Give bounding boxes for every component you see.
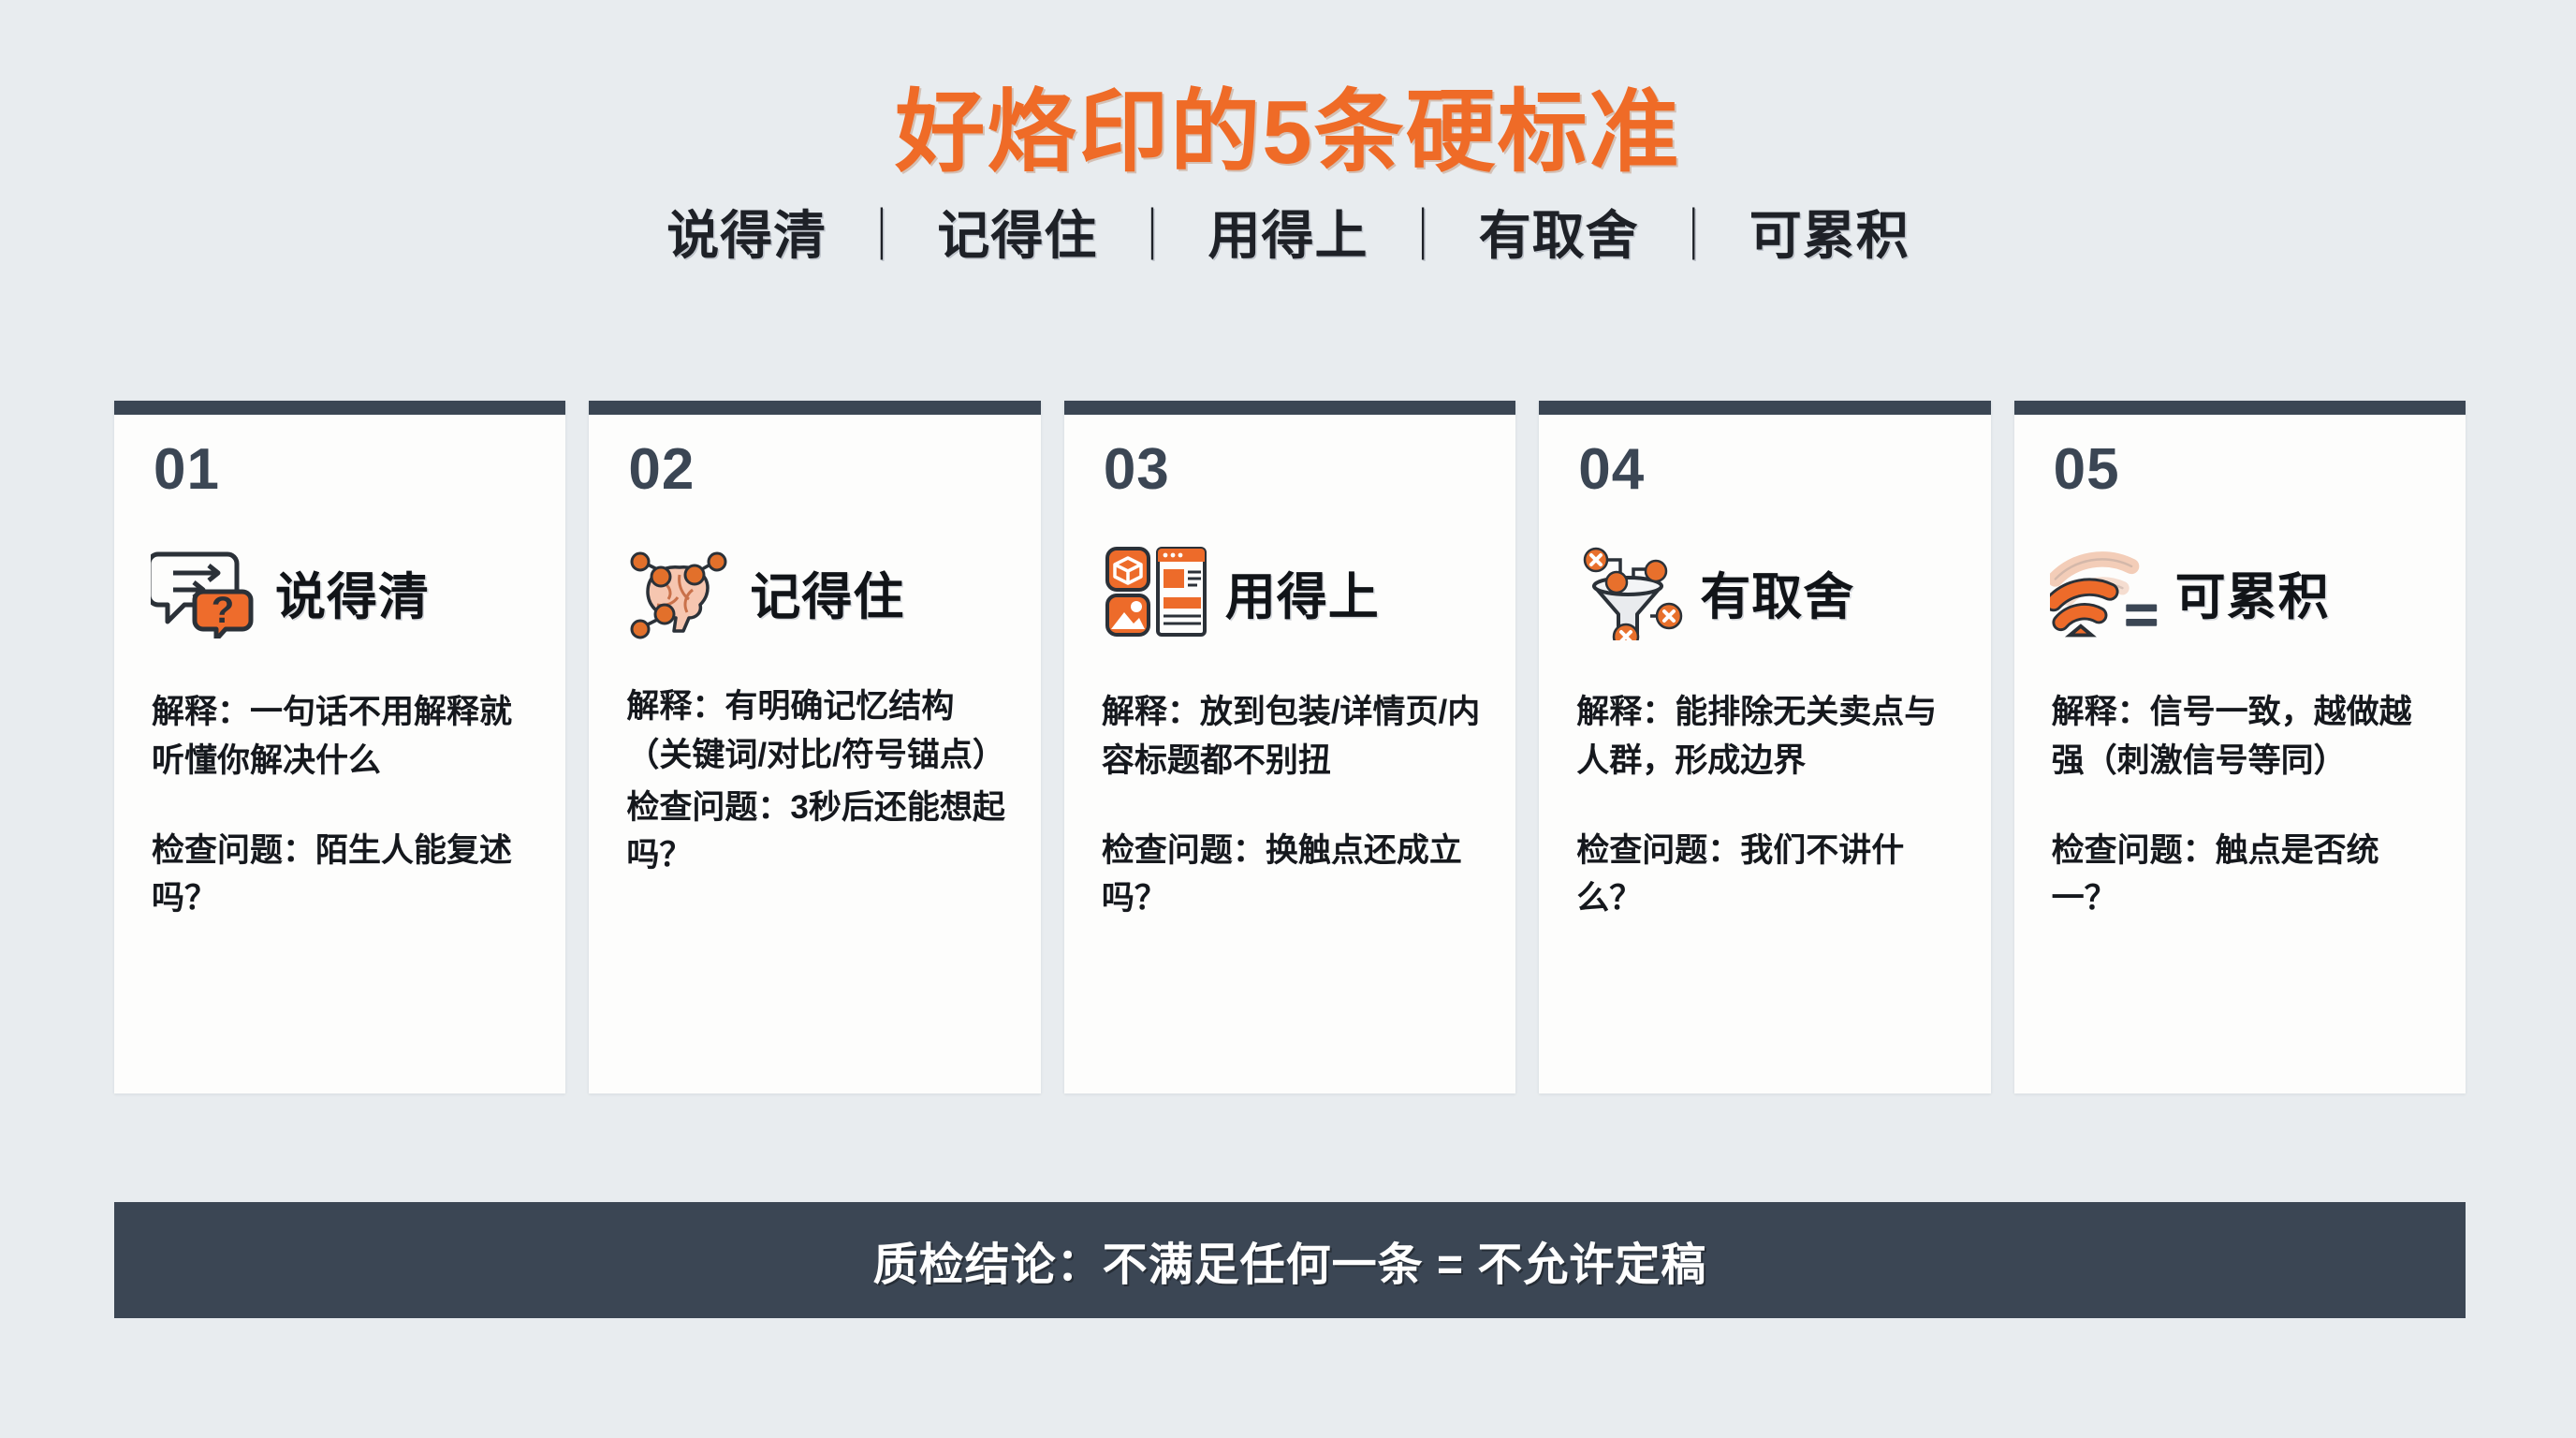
slide-header: 好烙印的5条硬标准 说得清 ｜ 记得住 ｜ 用得上 ｜ 有取舍 ｜ 可累积 xyxy=(0,82,2576,267)
card-explanation: 解释：能排除无关卖点与人群，形成边界 xyxy=(1576,688,1958,785)
card-number: 03 xyxy=(1064,415,1515,499)
card-header: ? 说得清 xyxy=(114,499,565,639)
card-header: 记得住 xyxy=(589,499,1040,639)
subtitle-separator-1: ｜ xyxy=(842,204,922,267)
subtitle-part-5: 可累积 xyxy=(1749,206,1910,265)
card-accent-bar xyxy=(589,401,1040,415)
card-header: 有取舍 xyxy=(1539,499,1990,639)
svg-text:?: ? xyxy=(212,590,234,631)
check-label: 检查问题： xyxy=(1576,832,1740,869)
card-title: 用得上 xyxy=(1225,555,1380,629)
card-check: 检查问题：陌生人能复述吗？ xyxy=(152,827,534,924)
page-title: 好烙印的5条硬标准 xyxy=(0,82,2576,183)
card-title: 说得清 xyxy=(275,555,430,629)
card-body: 解释：一句话不用解释就听懂你解决什么 检查问题：陌生人能复述吗？ xyxy=(114,639,565,1093)
conclusion-banner: 质检结论：不满足任何一条 = 不允许定稿 xyxy=(114,1202,2466,1318)
criteria-card-02[interactable]: 02 xyxy=(589,401,1040,1093)
card-explanation: 解释：放到包装/详情页/内容标题都不别扭 xyxy=(1102,688,1484,785)
card-body: 解释：信号一致，越做越强（刺激信号等同） 检查问题：触点是否统一？ xyxy=(2014,639,2466,1093)
package-webpage-icon xyxy=(1100,543,1212,640)
card-body: 解释：放到包装/详情页/内容标题都不别扭 检查问题：换触点还成立吗？ xyxy=(1064,639,1515,1093)
check-label: 检查问题： xyxy=(1102,832,1266,869)
card-number: 02 xyxy=(589,415,1040,499)
card-accent-bar xyxy=(1539,401,1990,415)
subtitle-part-2: 记得住 xyxy=(937,206,1097,265)
card-accent-bar xyxy=(1064,401,1515,415)
funnel-filter-icon xyxy=(1574,543,1687,640)
subtitle-part-3: 用得上 xyxy=(1208,206,1368,265)
subtitle-separator-4: ｜ xyxy=(1654,204,1734,267)
explanation-label: 解释： xyxy=(1102,694,1200,730)
card-accent-bar xyxy=(2014,401,2466,415)
card-check: 检查问题：触点是否统一？ xyxy=(2052,827,2434,924)
criteria-card-03[interactable]: 03 xyxy=(1064,401,1515,1093)
criteria-card-04[interactable]: 04 xyxy=(1539,401,1990,1093)
check-label: 检查问题： xyxy=(626,789,790,826)
subtitle-separator-2: ｜ xyxy=(1113,204,1193,267)
card-number: 05 xyxy=(2014,415,2466,499)
card-explanation: 解释：信号一致，越做越强（刺激信号等同） xyxy=(2052,688,2434,785)
wifi-signal-equals-icon xyxy=(2050,543,2162,640)
slide-canvas: 好烙印的5条硬标准 说得清 ｜ 记得住 ｜ 用得上 ｜ 有取舍 ｜ 可累积 01 xyxy=(0,0,2576,1438)
card-number: 04 xyxy=(1539,415,1990,499)
card-accent-bar xyxy=(114,401,565,415)
card-body: 解释：能排除无关卖点与人群，形成边界 检查问题：我们不讲什么？ xyxy=(1539,639,1990,1093)
subtitle: 说得清 ｜ 记得住 ｜ 用得上 ｜ 有取舍 ｜ 可累积 xyxy=(0,204,2576,267)
check-label: 检查问题： xyxy=(2052,832,2216,869)
brain-network-icon xyxy=(624,543,737,640)
conclusion-text: 质检结论：不满足任何一条 = 不允许定稿 xyxy=(873,1227,1707,1293)
criteria-card-row: 01 ? 说得清 解释：一句话不用解释就听懂你解决什么 xyxy=(114,401,2466,1093)
card-check: 检查问题：我们不讲什么？ xyxy=(1576,827,1958,924)
card-check: 检查问题：3秒后还能想起吗？ xyxy=(626,784,1008,881)
criteria-card-05[interactable]: 05 xyxy=(2014,401,2466,1093)
card-body: 解释：有明确记忆结构（关键词/对比/符号锚点） 检查问题：3秒后还能想起吗？ xyxy=(589,639,1040,1093)
card-explanation: 解释：有明确记忆结构（关键词/对比/符号锚点） xyxy=(626,682,1008,780)
explanation-label: 解释： xyxy=(1576,694,1675,730)
card-title: 有取舍 xyxy=(1700,555,1854,629)
criteria-card-01[interactable]: 01 ? 说得清 解释：一句话不用解释就听懂你解决什么 xyxy=(114,401,565,1093)
card-number: 01 xyxy=(114,415,565,499)
card-title: 记得住 xyxy=(750,555,904,629)
explanation-label: 解释： xyxy=(152,694,250,730)
check-label: 检查问题： xyxy=(152,832,315,869)
card-title: 可累积 xyxy=(2175,555,2330,629)
subtitle-separator-3: ｜ xyxy=(1383,204,1463,267)
card-header: 用得上 xyxy=(1064,499,1515,639)
card-header: 可累积 xyxy=(2014,499,2466,639)
card-check: 检查问题：换触点还成立吗？ xyxy=(1102,827,1484,924)
speech-bubble-question-icon: ? xyxy=(150,543,262,640)
card-explanation: 解释：一句话不用解释就听懂你解决什么 xyxy=(152,688,534,785)
explanation-label: 解释： xyxy=(2052,694,2150,730)
subtitle-part-1: 说得清 xyxy=(666,206,827,265)
explanation-label: 解释： xyxy=(626,688,724,725)
subtitle-part-4: 有取舍 xyxy=(1479,206,1639,265)
